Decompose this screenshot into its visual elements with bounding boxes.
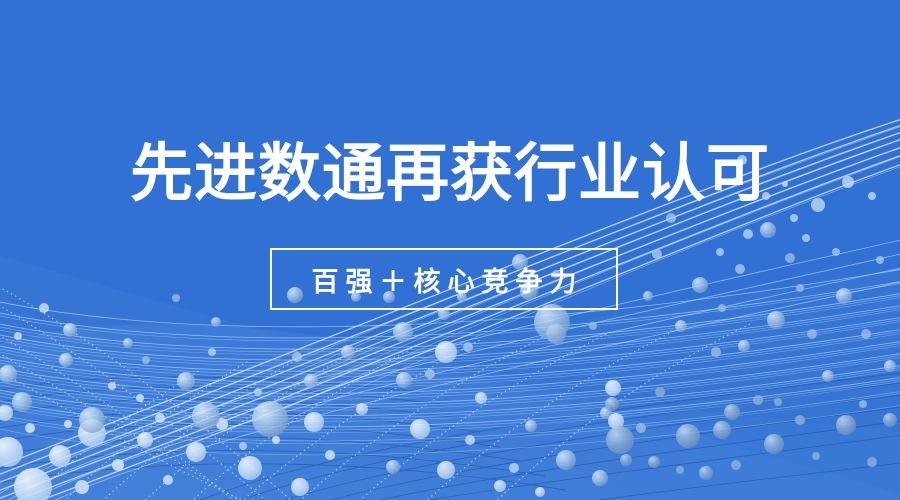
subtitle-frame: 百强＋核心竞争力	[270, 248, 618, 310]
banner-content: 先进数通再获行业认可 百强＋核心竞争力	[0, 0, 900, 500]
banner-root: 先进数通再获行业认可 百强＋核心竞争力	[0, 0, 900, 500]
page-title: 先进数通再获行业认可	[0, 138, 900, 210]
subtitle-text: 百强＋核心竞争力	[272, 250, 616, 308]
